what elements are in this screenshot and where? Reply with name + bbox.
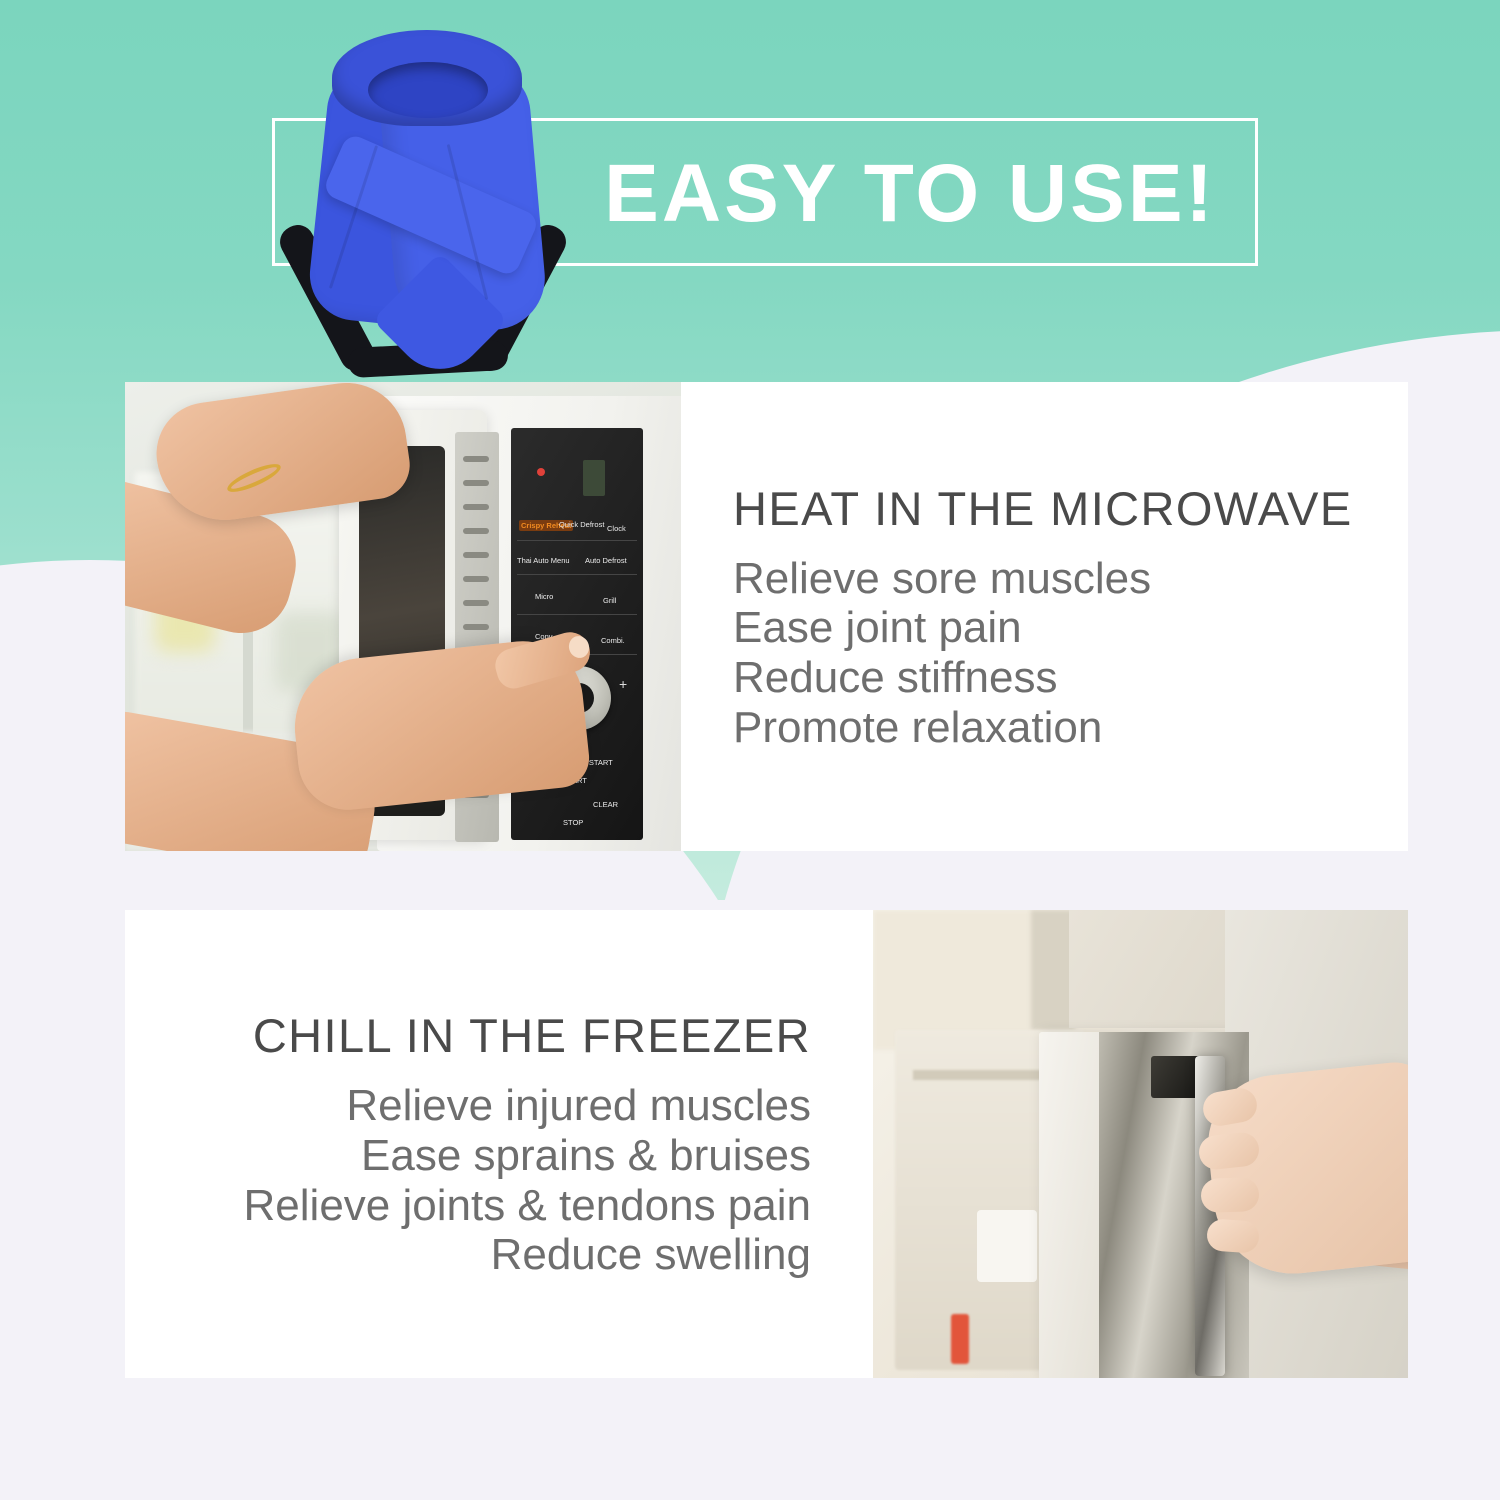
button-clear[interactable]: CLEAR	[593, 800, 618, 809]
chill-text-block: CHILL IN THE FREEZER Relieve injured mus…	[125, 910, 873, 1378]
benefit-item: Ease joint pain	[733, 603, 1151, 653]
section-card-heat: Crispy Reheat Quick Defrost Clock Thai A…	[125, 382, 1408, 851]
benefit-item: Ease sprains & bruises	[244, 1131, 811, 1181]
button-clock[interactable]: Clock	[607, 524, 626, 533]
button-combi[interactable]: Combi.	[601, 636, 625, 645]
heat-text-block: HEAT IN THE MICROWAVE Relieve sore muscl…	[681, 382, 1408, 851]
finger-4	[1206, 1218, 1260, 1254]
indicator-led	[537, 468, 545, 476]
freezer-photo	[873, 910, 1408, 1378]
button-micro[interactable]: Micro	[535, 592, 553, 601]
section-heading-heat: HEAT IN THE MICROWAVE	[733, 481, 1353, 536]
fridge-item-red	[951, 1314, 969, 1364]
infographic-canvas: EASY TO USE!	[0, 0, 1500, 1500]
benefit-list-chill: Relieve injured muscles Ease sprains & b…	[244, 1081, 811, 1280]
button-auto-defrost[interactable]: Auto Defrost	[585, 556, 627, 565]
section-card-chill: CHILL IN THE FREEZER Relieve injured mus…	[125, 910, 1408, 1378]
microwave-display	[583, 460, 605, 496]
benefit-item: Relieve joints & tendons pain	[244, 1181, 811, 1231]
button-grill[interactable]: Grill	[603, 596, 616, 605]
benefit-item: Reduce swelling	[244, 1230, 811, 1280]
button-quick-defrost[interactable]: Quick Defrost	[559, 520, 604, 529]
benefit-item: Relieve sore muscles	[733, 554, 1151, 604]
page-title: EASY TO USE!	[560, 140, 1260, 248]
button-thai-auto-menu[interactable]: Thai Auto Menu	[517, 556, 570, 565]
product-wrap-image	[296, 22, 556, 372]
increase-icon[interactable]: +	[619, 676, 627, 692]
benefit-item: Promote relaxation	[733, 703, 1151, 753]
wrap-collar-opening	[368, 62, 488, 118]
microwave-photo: Crispy Reheat Quick Defrost Clock Thai A…	[125, 382, 681, 851]
section-heading-chill: CHILL IN THE FREEZER	[253, 1008, 811, 1063]
benefit-item: Reduce stiffness	[733, 653, 1151, 703]
finger-3	[1200, 1177, 1259, 1213]
benefit-item: Relieve injured muscles	[244, 1081, 811, 1131]
benefit-list-heat: Relieve sore muscles Ease joint pain Red…	[733, 554, 1151, 753]
button-stop[interactable]: STOP	[563, 818, 583, 827]
fridge-item-white	[977, 1210, 1037, 1282]
